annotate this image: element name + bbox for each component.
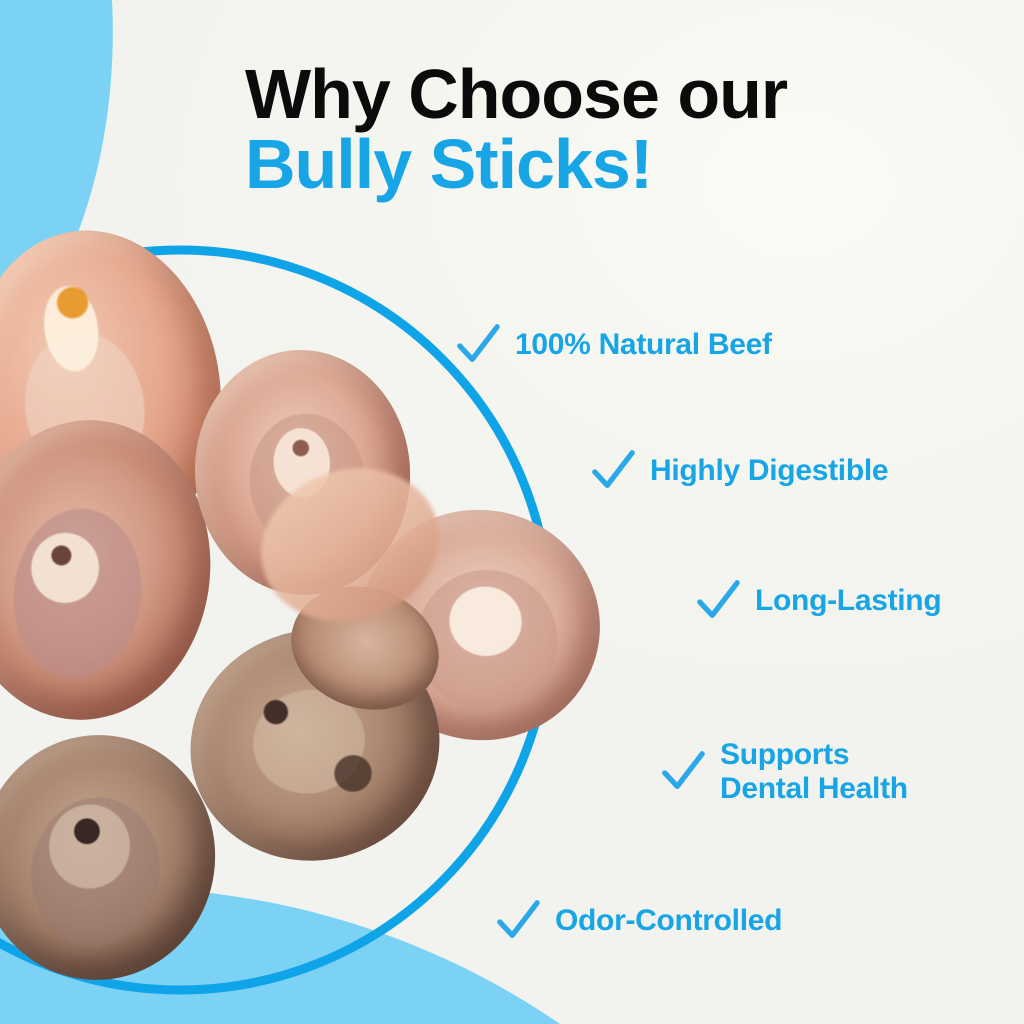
check-icon — [590, 448, 636, 494]
feature-label: Long-Lasting — [755, 584, 941, 618]
product-marketing-graphic: Why Choose our Bully Sticks! 100% Natura… — [0, 0, 1024, 1024]
feature-item: Long-Lasting — [695, 578, 941, 624]
check-icon — [455, 322, 501, 368]
feature-label: 100% Natural Beef — [515, 328, 772, 362]
feature-label: Odor-Controlled — [555, 904, 782, 938]
feature-label: Highly Digestible — [650, 454, 888, 488]
headline-line-1: Why Choose our — [245, 62, 945, 126]
check-icon — [495, 898, 541, 944]
page-title: Why Choose our Bully Sticks! — [245, 62, 945, 197]
feature-item: 100% Natural Beef — [455, 322, 772, 368]
feature-item: Supports Dental Health — [660, 738, 908, 805]
check-icon — [660, 749, 706, 795]
feature-item: Odor-Controlled — [495, 898, 782, 944]
check-icon — [695, 578, 741, 624]
headline-line-2: Bully Sticks! — [245, 132, 945, 196]
feature-label: Supports Dental Health — [720, 738, 908, 805]
feature-item: Highly Digestible — [590, 448, 888, 494]
